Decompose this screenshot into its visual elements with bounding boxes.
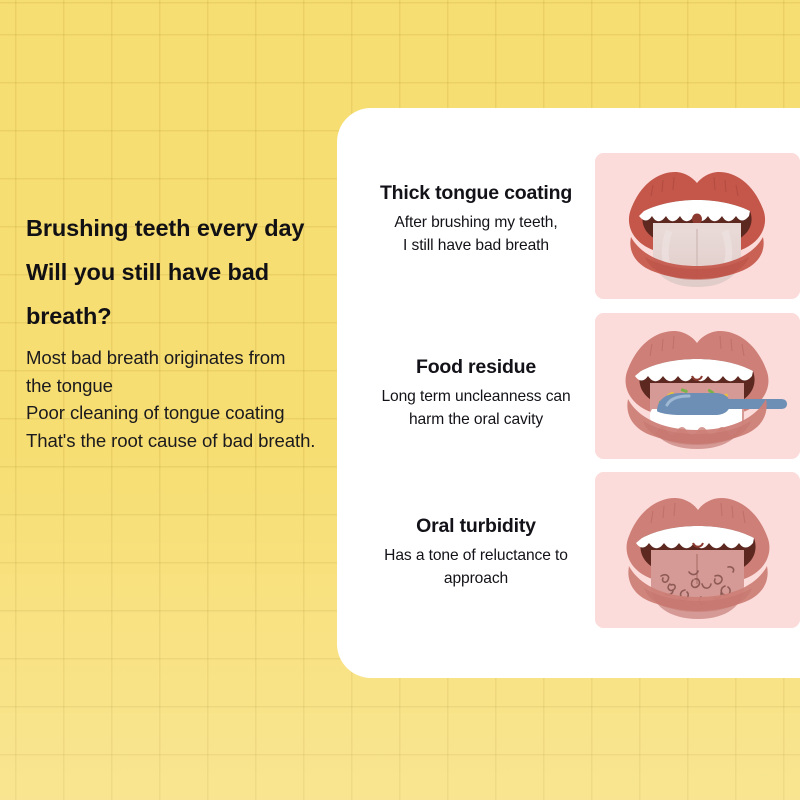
body-line-2: the tongue [26,375,113,396]
card-row-oral-turbidity: Oral turbidity Has a tone of reluctance … [337,472,800,628]
row-1-sub-line-1: After brushing my teeth, [394,214,557,231]
row-1-subtitle: After brushing my teeth, I still have ba… [361,212,591,257]
row-2-subtitle: Long term uncleanness can harm the oral … [361,386,591,431]
row-3-sub-line-2: approach [444,570,508,587]
row-3-title: Oral turbidity [361,514,591,538]
headline-line-2: Will you still have bad [26,250,342,294]
row-1-text: Thick tongue coating After brushing my t… [361,181,591,257]
row-2-sub-line-2: harm the oral cavity [409,411,543,428]
uvula [692,214,702,225]
card-row-thick-tongue-coating: Thick tongue coating After brushing my t… [337,153,800,299]
body-paragraph: Most bad breath originates from the tong… [26,344,342,454]
row-3-sub-line-1: Has a tone of reluctance to [384,547,568,564]
coated-tongue-illustration [595,153,800,299]
row-1-title: Thick tongue coating [361,181,591,205]
body-line-3: Poor cleaning of tongue coating [26,402,284,423]
body-line-1: Most bad breath originates from [26,347,285,368]
row-2-sub-line-1: Long term uncleanness can [381,388,570,405]
toothbrush-on-tongue-illustration [595,313,800,459]
row-3-subtitle: Has a tone of reluctance to approach [361,545,591,590]
row-2-text: Food residue Long term uncleanness can h… [361,355,591,431]
headline-line-3: breath? [26,294,342,338]
toothbrush-handle [721,399,787,409]
cracked-tongue-illustration [595,472,800,628]
row-3-text: Oral turbidity Has a tone of reluctance … [361,514,591,590]
headline-line-1: Brushing teeth every day [26,206,342,250]
left-copy-block: Brushing teeth every day Will you still … [26,206,342,454]
card-row-food-residue: Food residue Long term uncleanness can h… [337,313,800,459]
info-card: Thick tongue coating After brushing my t… [337,108,800,678]
body-line-4: That's the root cause of bad breath. [26,430,315,451]
row-1-sub-line-2: I still have bad breath [403,237,549,254]
row-2-title: Food residue [361,355,591,379]
